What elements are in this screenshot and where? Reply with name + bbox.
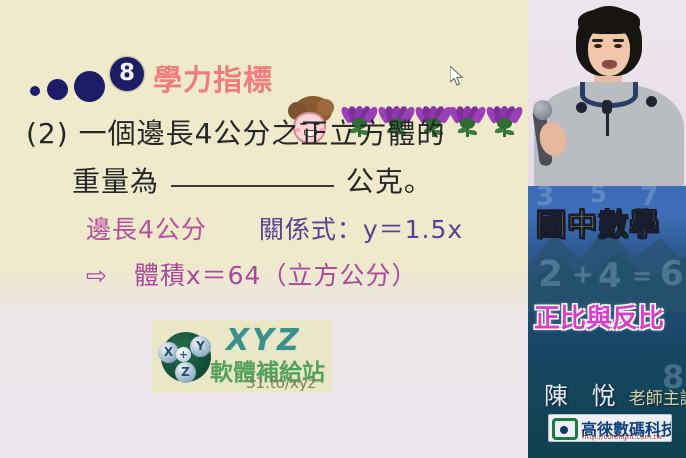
xyz-watermark-logo: X Y Z + XYZ 軟體補給站 31.to/xyz [152, 320, 332, 392]
question-text-1: 一個邊長4公分之正立方體的 [79, 117, 446, 150]
mouse-pointer-icon [450, 66, 463, 86]
given-condition-label: 邊長4公分 [86, 215, 207, 244]
question-text-2-suffix: 公克。 [346, 165, 433, 198]
company-url: http://corelight.com.tw [582, 433, 662, 441]
course-title-band: 2 + 4 = 6 8 3 5 7 國中數學 正比與反比 陳 悅 老師主講 高 [528, 186, 686, 458]
xyz-globe-label-plus: + [176, 347, 191, 362]
company-logo-mark-icon [552, 418, 578, 440]
lesson-title: 正比與反比 [534, 298, 686, 335]
subject-title: 國中數學 [536, 200, 686, 244]
bullet-dot-medium-icon [47, 79, 68, 100]
question-text-2-prefix: 重量為 [72, 165, 159, 198]
bullet-dot-large-icon [74, 71, 105, 102]
presentation-screenshot: 8 學力指標 [0, 0, 686, 458]
xyz-globe-icon: X Y Z + [157, 328, 215, 386]
flower-icon-4 [450, 104, 484, 138]
company-logo: 高徠數碼科技 http://corelight.com.tw [548, 414, 672, 442]
flower-icon-5 [487, 104, 521, 138]
slide-header-row: 8 學力指標 [0, 46, 528, 102]
section-title: 學力指標 [153, 57, 273, 99]
question-number: (2) [26, 117, 69, 150]
question-line-1: (2) 一個邊長4公分之正立方體的 [26, 112, 445, 152]
work-line-1: 邊長4公分 關係式：y＝1.5x [86, 210, 463, 246]
work-line-2: ⇨ 體積x＝64（立方公分） [86, 256, 417, 292]
xyz-globe-label-y: Y [190, 336, 211, 357]
result-value-label: 體積x＝64（立方公分） [134, 261, 418, 290]
xyz-watermark-url: 31.to/xyz [246, 374, 316, 392]
presenter-role: 老師主講 [629, 389, 686, 409]
answer-blank-field[interactable] [171, 185, 334, 187]
instructor-video-feed [528, 0, 686, 186]
xyz-globe-label-z: Z [175, 362, 196, 383]
presenter-name: 陳 悅 [544, 382, 624, 410]
section-number-badge: 8 [110, 57, 144, 91]
question-line-2: 重量為 公克。 [72, 160, 433, 200]
result-arrow-icon: ⇨ [86, 261, 108, 290]
relation-formula-label: 關係式：y＝1.5x [259, 215, 463, 244]
presenter-credit: 陳 悅 老師主講 [544, 376, 686, 411]
bullet-dot-small-icon [30, 86, 40, 96]
video-panel[interactable]: 2 + 4 = 6 8 3 5 7 國中數學 正比與反比 陳 悅 老師主講 高 [528, 0, 686, 458]
slide-content-area: 8 學力指標 [0, 0, 528, 458]
